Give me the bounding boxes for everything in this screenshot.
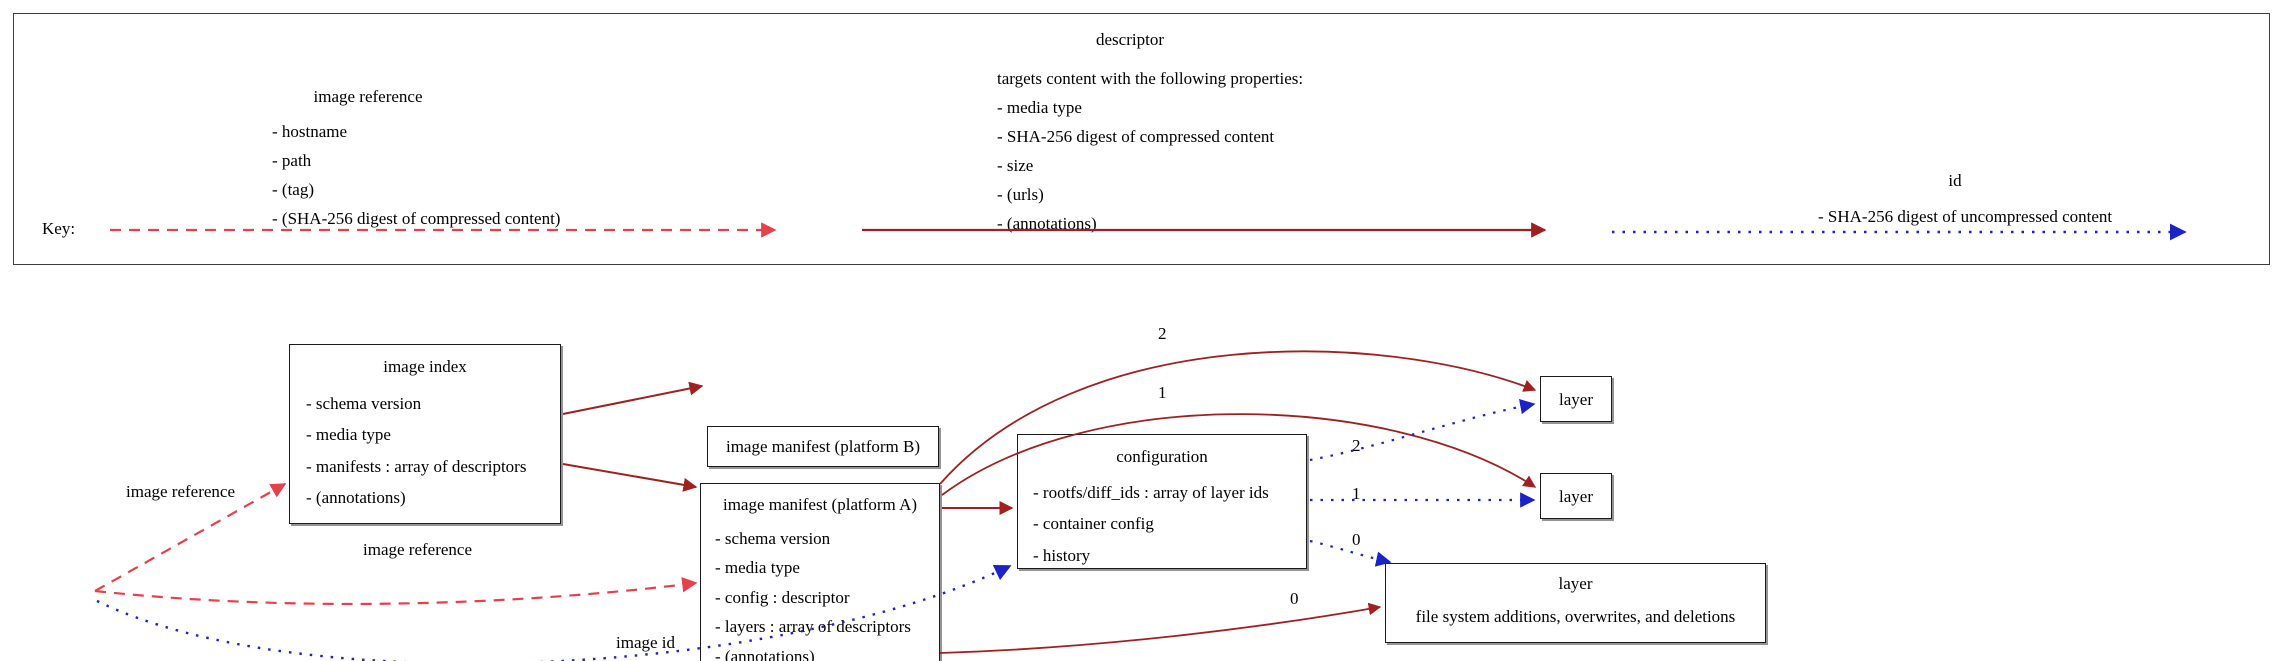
diagram-canvas: image reference - hostname - path - (tag… — [0, 0, 2287, 661]
edge-image-reference-to-manifest-a — [95, 583, 696, 604]
edge-manifest-a-to-layer-bottom — [940, 607, 1380, 653]
edge-configuration-to-layer-top — [1310, 404, 1534, 460]
edge-configuration-to-layer-bottom — [1310, 541, 1390, 562]
edge-layer — [0, 0, 2287, 661]
edge-index-to-manifest-b — [563, 386, 702, 414]
edge-image-reference-to-image-index — [95, 484, 285, 591]
edge-manifest-a-to-layer-top — [940, 351, 1535, 484]
edge-index-to-manifest-a — [563, 464, 696, 487]
edge-manifest-a-to-layer-mid — [942, 414, 1535, 495]
edge-image-id-to-configuration — [97, 566, 1010, 661]
